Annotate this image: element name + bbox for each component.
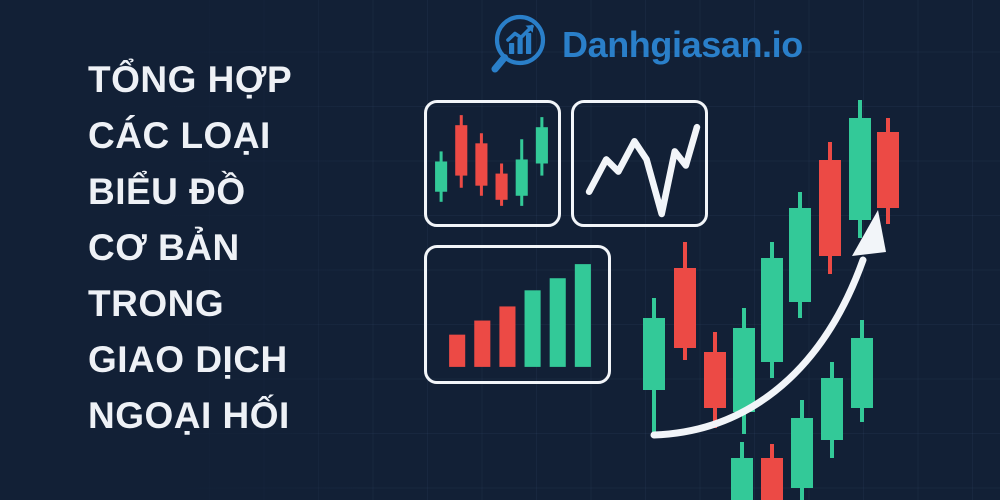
bar-4: [525, 290, 541, 367]
bar-5: [550, 278, 566, 367]
headline-line-6: GIAO DỊCH: [88, 332, 388, 388]
brand-name: Danhgiasan.io: [562, 25, 803, 65]
chart-card-candlestick: [424, 100, 561, 227]
magnifier-bar-chart-growth-icon: [487, 12, 553, 78]
headline-line-2: CÁC LOẠI: [88, 108, 388, 164]
chart-card-bar: [424, 245, 611, 384]
bar-2: [474, 321, 490, 367]
bar-1: [449, 335, 465, 367]
headline-line-7: NGOẠI HỐI: [88, 388, 388, 444]
brand-logo[interactable]: Danhgiasan.io: [487, 12, 803, 78]
headline-line-1: TỔNG HỢP: [88, 52, 388, 108]
bar-6: [575, 264, 591, 367]
chart-card-line: [571, 100, 708, 227]
line-series-path: [589, 127, 697, 214]
headline-line-5: TRONG: [88, 276, 388, 332]
marketing-banner: TỔNG HỢP CÁC LOẠI BIỂU ĐỒ CƠ BẢN TRONG G…: [0, 0, 1000, 500]
page-title: TỔNG HỢP CÁC LOẠI BIỂU ĐỒ CƠ BẢN TRONG G…: [88, 52, 388, 444]
bar-3: [499, 306, 515, 366]
headline-line-4: CƠ BẢN: [88, 220, 388, 276]
headline-line-3: BIỂU ĐỒ: [88, 164, 388, 220]
